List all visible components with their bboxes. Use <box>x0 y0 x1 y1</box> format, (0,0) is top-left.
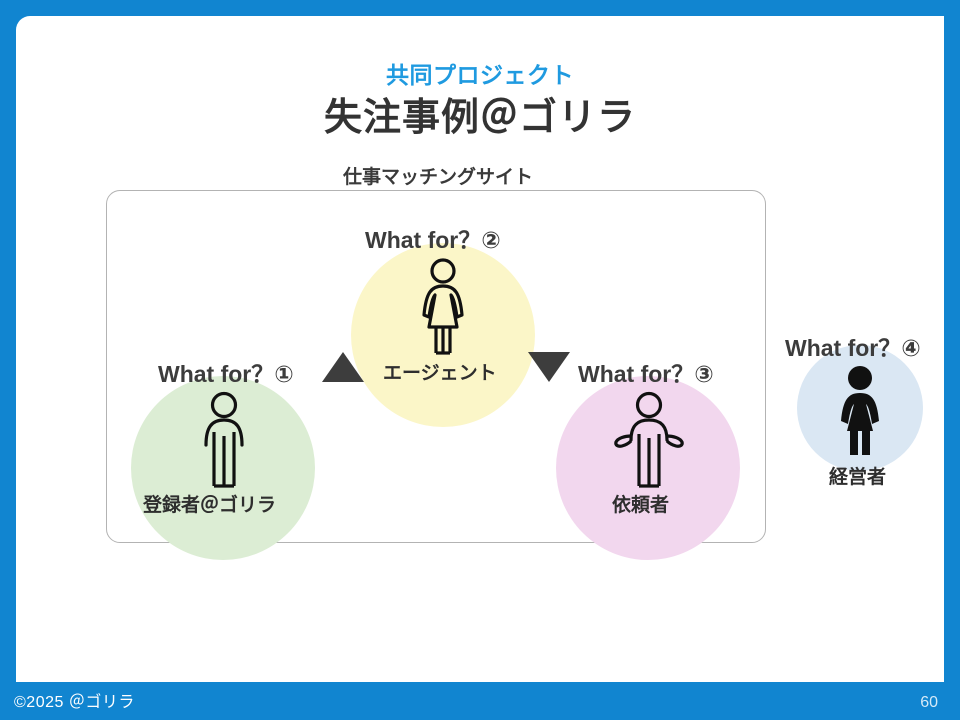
person-female-solid-icon <box>833 365 887 462</box>
person-male-arms-out-outline-icon <box>612 390 686 495</box>
role-label-client: 依頼者 <box>612 490 669 517</box>
footer-page-number: 60 <box>920 694 938 712</box>
question-label-agent: What for？② <box>365 221 501 255</box>
question-label-registrant: What for？① <box>158 355 294 389</box>
question-label-owner: What for？④ <box>785 329 921 363</box>
slide-kicker: 共同プロジェクト <box>0 56 960 90</box>
triangle-down-icon <box>528 352 570 382</box>
triangle-up-icon <box>322 352 364 382</box>
role-label-agent: エージェント <box>383 358 497 385</box>
page-title: 失注事例＠ゴリラ <box>0 86 960 141</box>
footer-copyright: ©2025 ＠ゴリラ <box>14 688 135 712</box>
section-caption: 仕事マッチングサイト <box>108 162 768 189</box>
person-female-outline-icon <box>415 257 471 362</box>
role-label-registrant: 登録者＠ゴリラ <box>143 490 276 517</box>
person-male-outline-icon <box>196 390 252 495</box>
role-label-owner: 経営者 <box>829 462 886 489</box>
question-label-client: What for？③ <box>578 355 714 389</box>
slide-canvas: 共同プロジェクト 失注事例＠ゴリラ 仕事マッチングサイト What for？① … <box>0 0 960 720</box>
